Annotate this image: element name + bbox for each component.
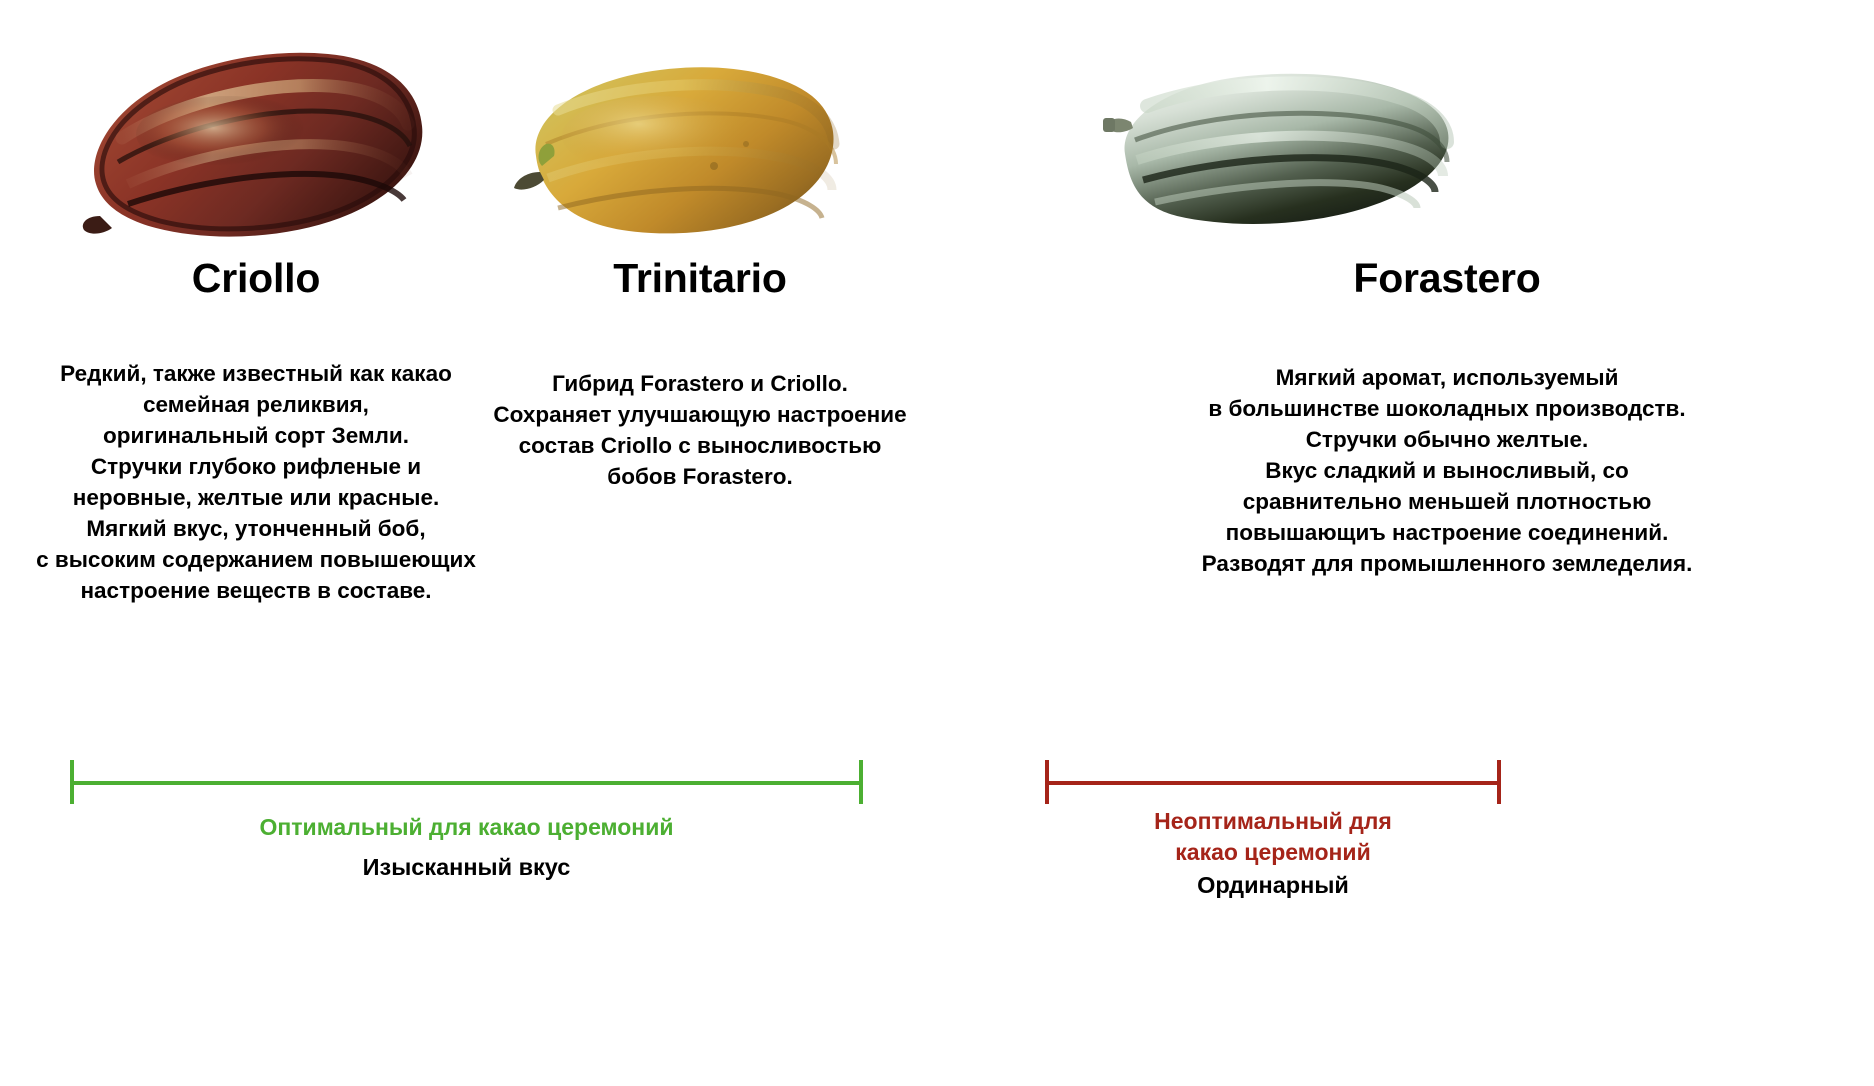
bracket-caption-secondary: Изысканный вкус: [70, 852, 863, 883]
desc-line: сравнительно меньшей плотностью: [1020, 486, 1874, 517]
bracket-caption-primary: какао церемоний: [1045, 837, 1501, 868]
cacao-pod-green-icon: [1095, 62, 1455, 232]
desc-line: состав Criollo с выносливостью: [455, 430, 945, 461]
bracket-bar: [1045, 781, 1501, 785]
desc-line: Разводят для промышленного земледелия.: [1020, 548, 1874, 579]
desc-line: Вкус сладкий и выносливый, со: [1020, 455, 1874, 486]
variety-column-trinitario: Trinitario Гибрид Forastero и Criollo. С…: [455, 255, 945, 492]
bracket-caption-suboptimal: Неоптимальный для какао церемоний Ордина…: [1045, 806, 1501, 901]
variety-description-criollo: Редкий, также известный как какао семейн…: [0, 358, 512, 606]
desc-line: семейная реликвия,: [0, 389, 512, 420]
variety-description-trinitario: Гибрид Forastero и Criollo. Сохраняет ул…: [455, 368, 945, 492]
desc-line: в большинстве шоколадных производств.: [1020, 393, 1874, 424]
desc-line: Редкий, также известный как какао: [0, 358, 512, 389]
bracket-suboptimal: [1045, 760, 1501, 804]
desc-line: оригинальный сорт Земли.: [0, 420, 512, 451]
desc-line: бобов Forastero.: [455, 461, 945, 492]
variety-description-forastero: Мягкий аромат, используемый в большинств…: [1020, 362, 1874, 579]
bracket-cap-right: [1497, 760, 1501, 804]
variety-title-forastero: Forastero: [1020, 255, 1874, 302]
desc-line: Стручки обычно желтые.: [1020, 424, 1874, 455]
desc-line: Сохраняет улучшающую настроение: [455, 399, 945, 430]
bracket-optimal: [70, 760, 863, 804]
bracket-caption-primary: Оптимальный для какао церемоний: [70, 812, 863, 843]
bracket-caption-primary: Неоптимальный для: [1045, 806, 1501, 837]
bracket-cap-right: [859, 760, 863, 804]
variety-title-trinitario: Trinitario: [455, 255, 945, 302]
desc-line: Стручки глубоко рифленые и: [0, 451, 512, 482]
desc-line: с высоким содержанием повышеющих: [0, 544, 512, 575]
bracket-caption-secondary: Ординарный: [1045, 870, 1501, 901]
desc-line: неровные, желтые или красные.: [0, 482, 512, 513]
cacao-pod-red-icon: [78, 34, 426, 246]
variety-title-criollo: Criollo: [0, 255, 512, 302]
desc-line: повышающиъ настроение соединений.: [1020, 517, 1874, 548]
desc-line: Мягкий вкус, утонченный боб,: [0, 513, 512, 544]
cacao-pod-yellow-icon: [500, 48, 850, 248]
variety-column-forastero: Forastero Мягкий аромат, используемый в …: [1020, 255, 1874, 579]
desc-line: настроение веществ в составе.: [0, 575, 512, 606]
desc-line: Гибрид Forastero и Criollo.: [455, 368, 945, 399]
bracket-caption-optimal: Оптимальный для какао церемоний Изысканн…: [70, 812, 863, 883]
desc-line: Мягкий аромат, используемый: [1020, 362, 1874, 393]
infographic-canvas: Criollo Редкий, также известный как кака…: [0, 0, 1874, 1086]
variety-column-criollo: Criollo Редкий, также известный как кака…: [0, 255, 512, 606]
bracket-bar: [70, 781, 863, 785]
